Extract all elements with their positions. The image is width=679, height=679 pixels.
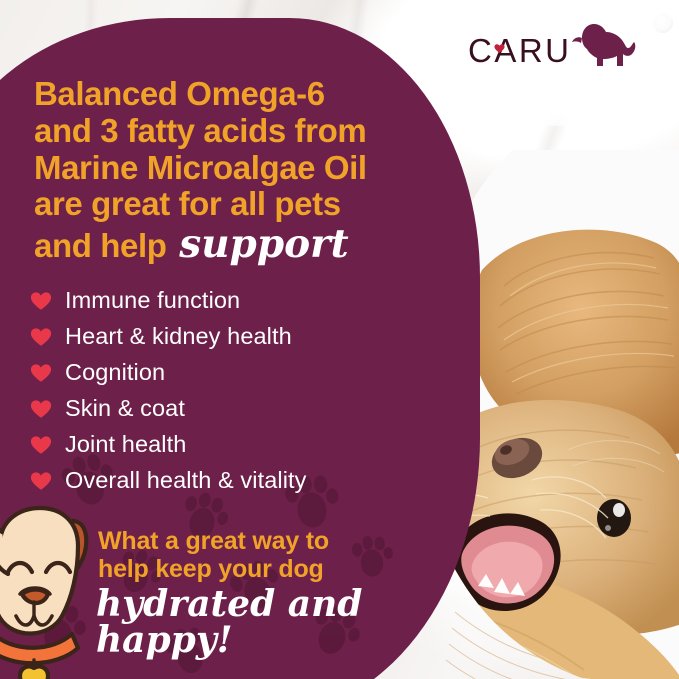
benefit-label: Joint health	[65, 431, 186, 458]
dog-silhouette-icon	[568, 22, 638, 79]
headline-script-support: support	[175, 221, 348, 267]
heart-icon	[30, 326, 52, 348]
list-item: Overall health & vitality	[30, 462, 430, 498]
brand-logo[interactable]: CARU	[468, 22, 638, 79]
closing-block: What a great way to help keep your dog	[98, 527, 418, 583]
poster-stage: Balanced Omega-6 and 3 fatty acids from …	[0, 0, 679, 679]
heart-icon	[494, 41, 505, 52]
brand-wordmark: CARU	[468, 32, 572, 70]
closing-line-1: What a great way to	[98, 527, 418, 555]
list-item: Cognition	[30, 354, 430, 390]
benefit-label: Heart & kidney health	[65, 323, 292, 350]
heart-icon	[30, 362, 52, 384]
list-item: Skin & coat	[30, 390, 430, 426]
benefit-label: Cognition	[65, 359, 165, 386]
benefit-label: Skin & coat	[65, 395, 185, 422]
benefit-label: Overall health & vitality	[65, 467, 307, 494]
heart-icon	[30, 434, 52, 456]
benefits-list: Immune function Heart & kidney health Co…	[30, 282, 430, 498]
headline-line-5-prefix: and help	[34, 227, 175, 264]
headline-line-1: Balanced Omega-6	[34, 76, 434, 113]
list-item: Heart & kidney health	[30, 318, 430, 354]
heart-icon	[30, 290, 52, 312]
cartoon-dog-mascot	[0, 498, 126, 679]
heart-icon	[30, 398, 52, 420]
heart-icon	[30, 470, 52, 492]
list-item: Joint health	[30, 426, 430, 462]
headline-line-5: and help support	[34, 223, 434, 266]
benefit-label: Immune function	[65, 287, 240, 314]
cartoon-dog-art	[0, 498, 126, 679]
list-item: Immune function	[30, 282, 430, 318]
headline-line-4: are great for all pets	[34, 186, 434, 223]
headline-line-2: and 3 fatty acids from	[34, 113, 434, 150]
headline-line-3: Marine Microalgae Oil	[34, 150, 434, 187]
closing-script-line: hydrated and happy!	[96, 586, 426, 658]
headline-block: Balanced Omega-6 and 3 fatty acids from …	[34, 76, 434, 267]
closing-line-2: help keep your dog	[98, 555, 418, 583]
